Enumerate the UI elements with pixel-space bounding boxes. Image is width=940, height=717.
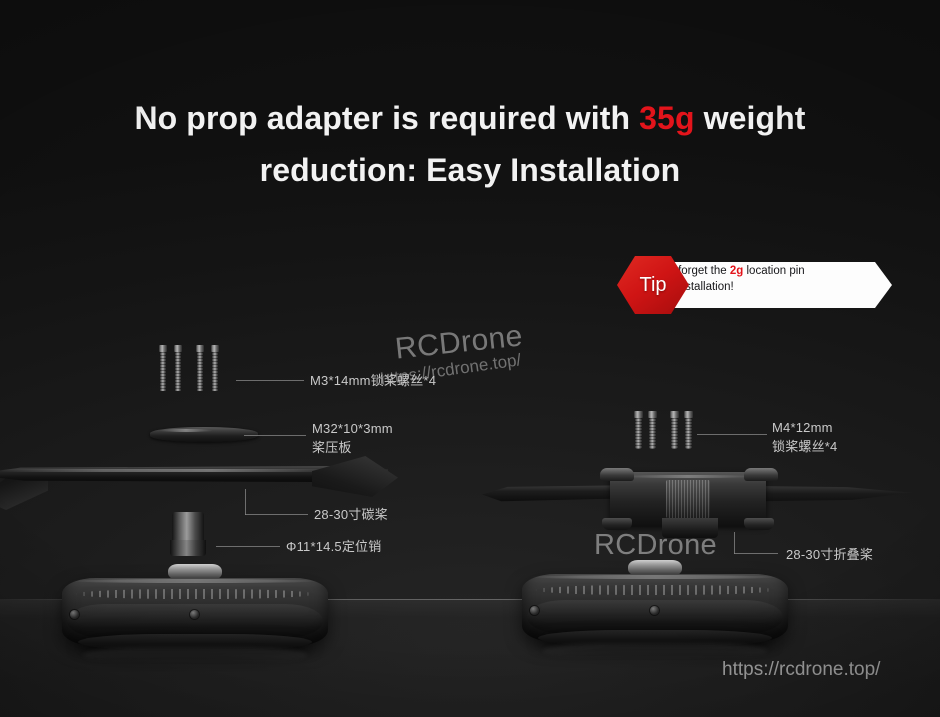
leader-line-prop-left [245, 514, 308, 515]
headline-highlight-weight: 35g [639, 100, 694, 136]
prop-clamp-lower [744, 518, 774, 530]
screw-head [670, 411, 679, 418]
motor-bolt [190, 610, 199, 619]
screw-shaft [671, 418, 678, 449]
motor-vent-slots [535, 585, 774, 595]
leader-line-prop-right [734, 553, 778, 554]
propeller-highlight [0, 469, 339, 472]
product-illustration-canvas: No prop adapter is required with 35g wei… [0, 0, 940, 717]
screw-right-part-4 [684, 411, 693, 449]
motor-left [62, 570, 328, 656]
screw-head [196, 345, 204, 352]
prop-clamp-upper [744, 468, 778, 481]
screw-shaft [175, 352, 181, 391]
screw-part-1 [159, 345, 167, 391]
pin-upper-body [172, 512, 204, 540]
watermark-brand-top: RCDrone [394, 319, 525, 366]
leader-line-plate-left [244, 435, 306, 436]
screw-head [684, 411, 693, 418]
screw-right-part-2 [648, 411, 657, 449]
carbon-propeller-part [0, 452, 388, 514]
leader-line-screws-right [697, 434, 767, 435]
leader-line-pin-left [216, 546, 280, 547]
prop-hub-stem [662, 518, 718, 538]
leader-line-prop-right-vertical [734, 532, 735, 554]
screw-part-3 [196, 345, 204, 391]
screw-part-2 [174, 345, 182, 391]
label-left-locating-pin: Φ11*14.5定位销 [286, 538, 381, 557]
label-right-screws: M4*12mm 锁桨螺丝*4 [772, 419, 838, 457]
locating-pin-part [172, 512, 204, 556]
pin-lower-flange [170, 540, 206, 556]
prop-clamp-lower [602, 518, 632, 530]
motor-bolt [70, 610, 79, 619]
leader-line-screws-left [236, 380, 304, 381]
motor-right [522, 566, 788, 652]
label-left-screws: M3*14mm锁桨螺丝*4 [310, 372, 436, 391]
screw-shaft [212, 352, 218, 391]
screw-head [211, 345, 219, 352]
screw-right-part-1 [634, 411, 643, 449]
screw-shaft [197, 352, 203, 391]
screw-head [174, 345, 182, 352]
screw-head [648, 411, 657, 418]
screw-head [634, 411, 643, 418]
screw-shaft [635, 418, 642, 449]
motor-bolt [530, 606, 539, 615]
motor-reflection [83, 648, 306, 662]
label-right-propeller: 28-30寸折叠桨 [786, 546, 873, 565]
screw-shaft [685, 418, 692, 449]
headline-text-before: No prop adapter is required with [134, 100, 639, 136]
tip-callout: Do not forget the 2g location pin during… [617, 256, 892, 314]
prop-pressure-plate-part [150, 427, 258, 442]
screw-head [159, 345, 167, 352]
screw-right-part-3 [670, 411, 679, 449]
motor-vent-slots [75, 589, 314, 599]
propeller-tip-right [312, 456, 398, 510]
label-left-propeller: 28-30寸碳桨 [314, 506, 388, 525]
folding-propeller-assembly [482, 468, 912, 542]
tip-highlight-weight: 2g [730, 265, 743, 277]
prop-clamp-upper [600, 468, 634, 481]
tip-badge-label: Tip [639, 274, 666, 297]
leader-line-prop-left-vertical [245, 489, 246, 515]
motor-bolt [650, 606, 659, 615]
screw-shaft [649, 418, 656, 449]
motor-reflection [543, 644, 766, 658]
screw-part-4 [211, 345, 219, 391]
screw-shaft [160, 352, 166, 391]
page-title: No prop adapter is required with 35g wei… [0, 93, 940, 197]
